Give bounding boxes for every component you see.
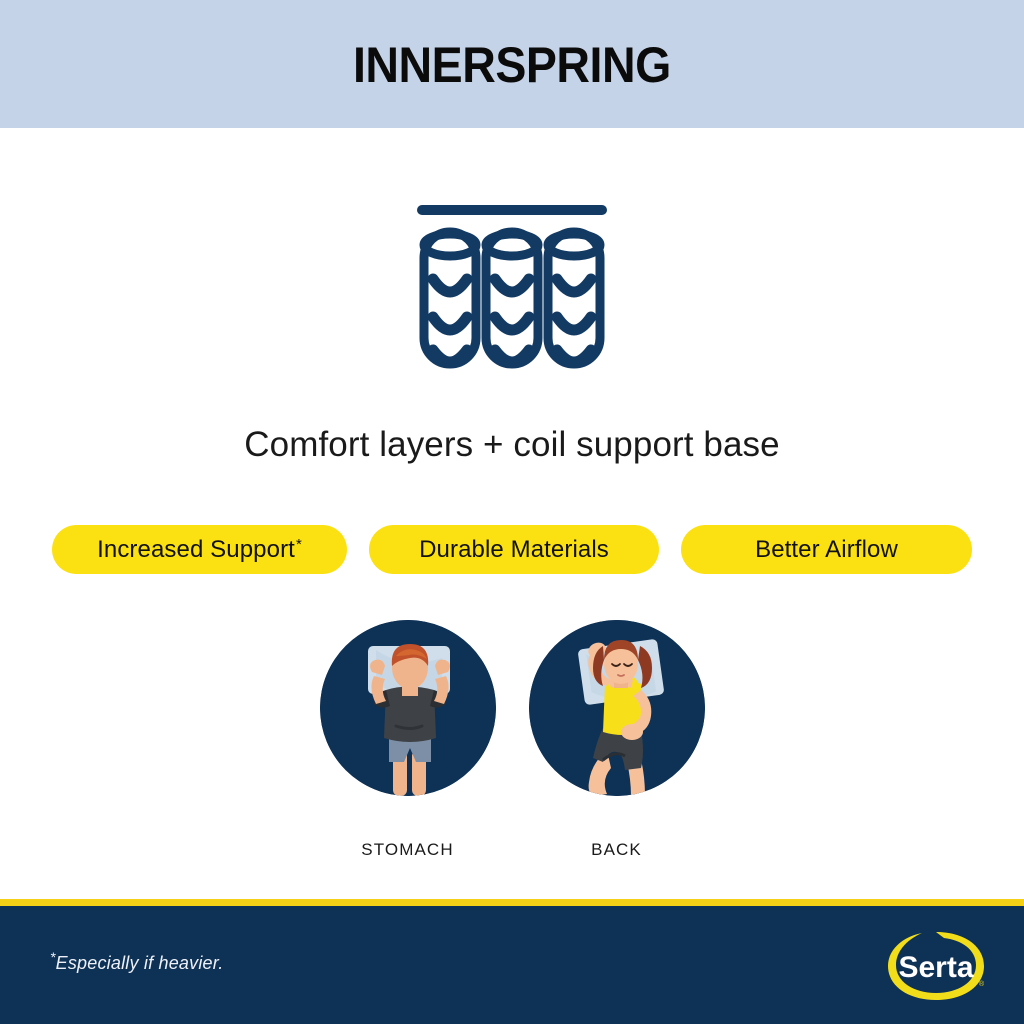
- sleep-position-back[interactable]: BACK: [529, 620, 705, 860]
- footnote-text: *Especially if heavier.: [50, 953, 223, 974]
- footer-accent-stripe: [0, 899, 1024, 906]
- innerspring-infographic: INNERSPRING Comfort layers + co: [0, 0, 1024, 1024]
- serta-wordmark: Serta: [898, 951, 973, 984]
- benefit-pill-label: Increased Support: [97, 536, 295, 564]
- registered-mark: ®: [979, 980, 985, 988]
- benefit-pill-label: Better Airflow: [755, 536, 898, 564]
- serta-logo[interactable]: Serta ®: [876, 924, 996, 1008]
- tagline: Comfort layers + coil support base: [0, 424, 1024, 466]
- benefit-pill-durable-materials[interactable]: Durable Materials: [369, 525, 659, 574]
- benefit-pill-increased-support[interactable]: Increased Support*: [52, 525, 347, 574]
- page-title: INNERSPRING: [353, 40, 671, 90]
- benefit-pill-label: Durable Materials: [419, 536, 609, 564]
- back-sleeper-illustration: [529, 620, 705, 796]
- benefit-pill-row: Increased Support* Durable Materials Bet…: [52, 525, 972, 574]
- stomach-sleeper-illustration: [320, 620, 496, 796]
- sleep-position-label: BACK: [591, 840, 642, 860]
- footnote-label: Especially if heavier.: [56, 953, 224, 973]
- header-band: INNERSPRING: [0, 0, 1024, 128]
- benefit-pill-better-airflow[interactable]: Better Airflow: [681, 525, 972, 574]
- sleep-positions-row: STOMACH: [0, 620, 1024, 860]
- sleep-position-stomach[interactable]: STOMACH: [320, 620, 496, 860]
- sleep-position-label: STOMACH: [361, 840, 453, 860]
- coil-spring-icon: [417, 200, 607, 372]
